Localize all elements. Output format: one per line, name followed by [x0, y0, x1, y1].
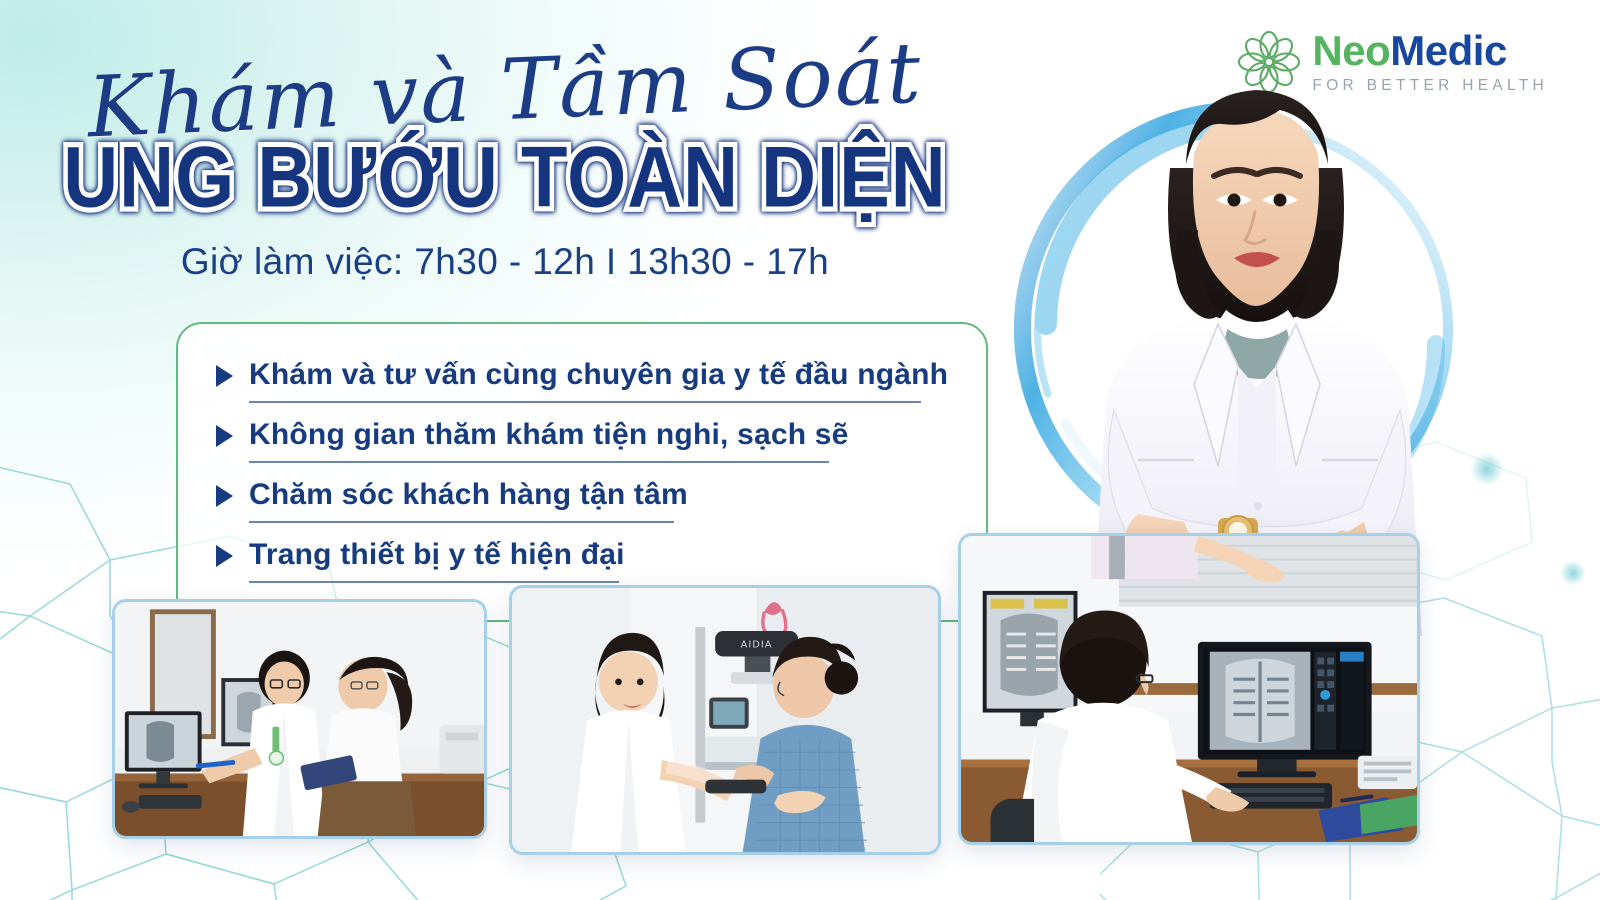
- feature-label-3: Chăm sóc khách hàng tận tâm: [249, 478, 688, 512]
- svg-text:AIDIA: AIDIA: [741, 640, 773, 651]
- photo-mammography-screening[interactable]: AIDIA: [509, 585, 941, 855]
- feature-label-1: Khám và tư vấn cùng chuyên gia y tế đầu …: [249, 358, 948, 392]
- decor-glow-dot-3: [1560, 560, 1586, 586]
- working-hours: Giờ làm việc: 7h30 - 12h I 13h30 - 17h: [0, 241, 1010, 283]
- feature-rule-3: [249, 521, 674, 523]
- headline-block: Khám và Tầm Soát UNG BƯỚU TOÀN DIỆN Giờ …: [0, 46, 1010, 283]
- feature-item-1: Khám và tư vấn cùng chuyên gia y tế đầu …: [216, 358, 956, 403]
- feature-item-3: Chăm sóc khách hàng tận tâm: [216, 478, 956, 523]
- photo-xray-consultation[interactable]: [112, 599, 487, 839]
- main-headline: UNG BƯỚU TOÀN DIỆN: [0, 128, 1010, 227]
- triangle-bullet-icon: [216, 485, 233, 507]
- feature-rule-4: [249, 581, 619, 583]
- triangle-bullet-icon: [216, 365, 233, 387]
- feature-label-4: Trang thiết bị y tế hiện đại: [249, 538, 625, 572]
- feature-item-4: Trang thiết bị y tế hiện đại: [216, 538, 956, 583]
- feature-item-2: Không gian thăm khám tiện nghi, sạch sẽ: [216, 418, 956, 463]
- photo-radiologist-reading[interactable]: [958, 533, 1420, 845]
- feature-label-2: Không gian thăm khám tiện nghi, sạch sẽ: [249, 418, 849, 452]
- triangle-bullet-icon: [216, 425, 233, 447]
- triangle-bullet-icon: [216, 545, 233, 567]
- promo-banner: NeoMedic FOR BETTER HEALTH Khám và Tầm S…: [0, 0, 1600, 900]
- feature-rule-2: [249, 461, 829, 463]
- feature-list-card: Khám và tư vấn cùng chuyên gia y tế đầu …: [176, 322, 988, 622]
- feature-rule-1: [249, 401, 921, 403]
